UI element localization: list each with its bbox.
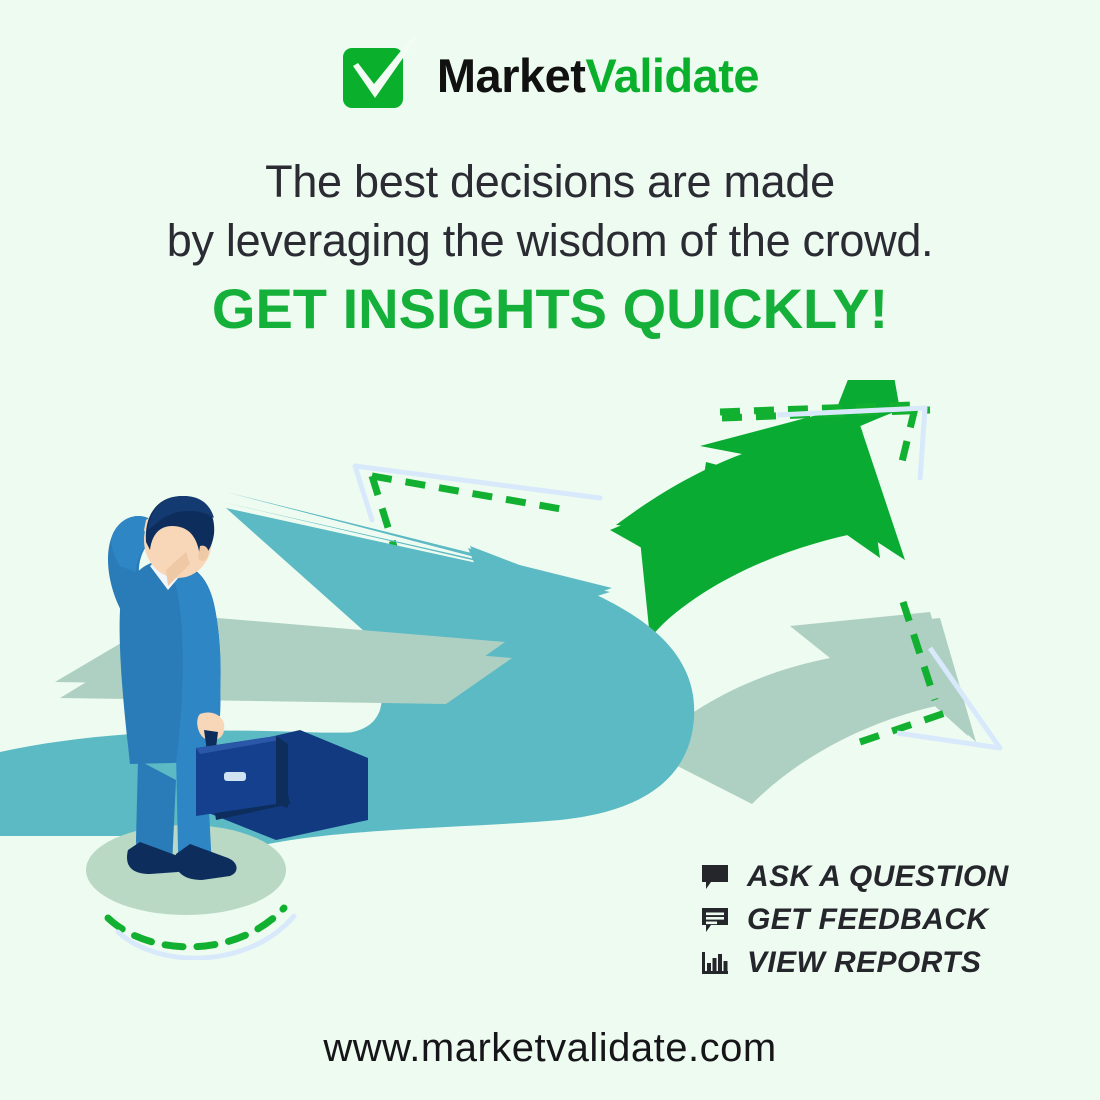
brand-wordmark: MarketValidate: [437, 52, 759, 99]
feature-label: ASK A QUESTION: [747, 862, 1009, 892]
feature-label: VIEW REPORTS: [747, 948, 981, 978]
feedback-bubble-icon: [700, 906, 730, 934]
green-checkbox-check-icon: [341, 36, 419, 114]
brand-name-part2: Validate: [585, 49, 759, 102]
headline-line-1: The best decisions are made: [0, 152, 1100, 211]
speech-bubble-icon: [700, 863, 730, 891]
feature-item-ask-a-question[interactable]: ASK A QUESTION: [700, 860, 1009, 894]
feature-item-view-reports[interactable]: VIEW REPORTS: [700, 946, 1009, 980]
poster-canvas: MarketValidate The best decisions are ma…: [0, 0, 1100, 1100]
bar-chart-icon: [700, 949, 730, 977]
brand-logo[interactable]: MarketValidate: [0, 36, 1100, 114]
tagline: GET INSIGHTS QUICKLY!: [0, 278, 1100, 340]
footer-website-url[interactable]: www.marketvalidate.com: [0, 1026, 1100, 1071]
headline-line-2: by leveraging the wisdom of the crowd.: [0, 211, 1100, 270]
feature-list: ASK A QUESTION GET FEEDBACK VIEW REPORTS: [700, 860, 1009, 980]
feature-item-get-feedback[interactable]: GET FEEDBACK: [700, 903, 1009, 937]
feature-label: GET FEEDBACK: [747, 905, 988, 935]
headline: The best decisions are made by leveragin…: [0, 152, 1100, 271]
brand-name-part1: Market: [437, 49, 586, 102]
